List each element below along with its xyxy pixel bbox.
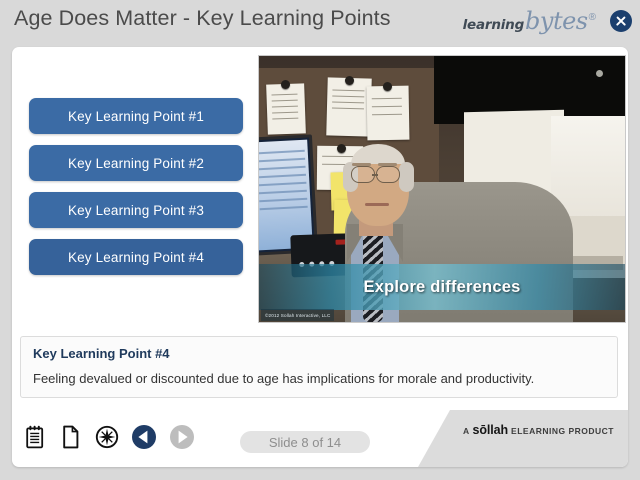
- key-learning-point-button-1[interactable]: Key Learning Point #1: [29, 98, 243, 134]
- slide-indicator: Slide 8 of 14: [240, 431, 370, 453]
- learning-point-detail-title: Key Learning Point #4: [33, 346, 605, 361]
- player-toolbar: [22, 422, 196, 452]
- brand-corner-shape: [418, 410, 628, 467]
- page-title: Age Does Matter - Key Learning Points: [14, 6, 391, 31]
- content-stage: Key Learning Point #1 Key Learning Point…: [12, 47, 628, 467]
- header-bar: Age Does Matter - Key Learning Points le…: [0, 0, 640, 46]
- video-paper: [266, 83, 306, 134]
- video-caption-text: Explore differences: [364, 278, 521, 297]
- sollah-brand: A sōllah ELEARNING PRODUCT: [463, 423, 614, 437]
- registered-mark-icon: ®: [589, 12, 596, 23]
- video-person-glasses-bridge: [372, 174, 378, 176]
- video-copyright-text: ©2012 Sollah Interactive, LLC: [265, 313, 330, 318]
- video-person-mouth: [365, 203, 389, 206]
- logo-word-learning: learning: [463, 17, 524, 33]
- back-button[interactable]: [130, 423, 158, 451]
- close-icon[interactable]: [610, 10, 632, 32]
- learningbytes-logo: learning bytes ®: [463, 7, 596, 35]
- key-learning-point-button-2[interactable]: Key Learning Point #2: [29, 145, 243, 181]
- key-learning-point-button-3[interactable]: Key Learning Point #3: [29, 192, 243, 228]
- video-copyright: ©2012 Sollah Interactive, LLC: [261, 309, 334, 321]
- logo-word-bytes: bytes: [525, 7, 588, 35]
- video-player[interactable]: Explore differences ©2012 Sollah Interac…: [259, 56, 625, 322]
- video-paper: [367, 86, 410, 141]
- brand-name: sōllah: [473, 423, 509, 437]
- forward-button[interactable]: [168, 423, 196, 451]
- key-learning-point-list: Key Learning Point #1 Key Learning Point…: [29, 98, 243, 286]
- key-learning-point-button-4[interactable]: Key Learning Point #4: [29, 239, 243, 275]
- video-person-hair: [399, 162, 414, 192]
- page-icon[interactable]: [58, 422, 84, 452]
- brand-prefix: A: [463, 426, 470, 436]
- compass-icon[interactable]: [94, 422, 120, 452]
- notepad-icon[interactable]: [22, 422, 48, 452]
- learning-point-detail-panel: Key Learning Point #4 Feeling devalued o…: [20, 336, 618, 398]
- video-paper: [326, 77, 372, 136]
- brand-suffix: ELEARNING PRODUCT: [511, 426, 614, 436]
- video-person-glasses: [376, 166, 400, 183]
- learning-point-detail-body: Feeling devalued or discounted due to ag…: [33, 370, 605, 388]
- video-caption-band: Explore differences: [259, 264, 625, 310]
